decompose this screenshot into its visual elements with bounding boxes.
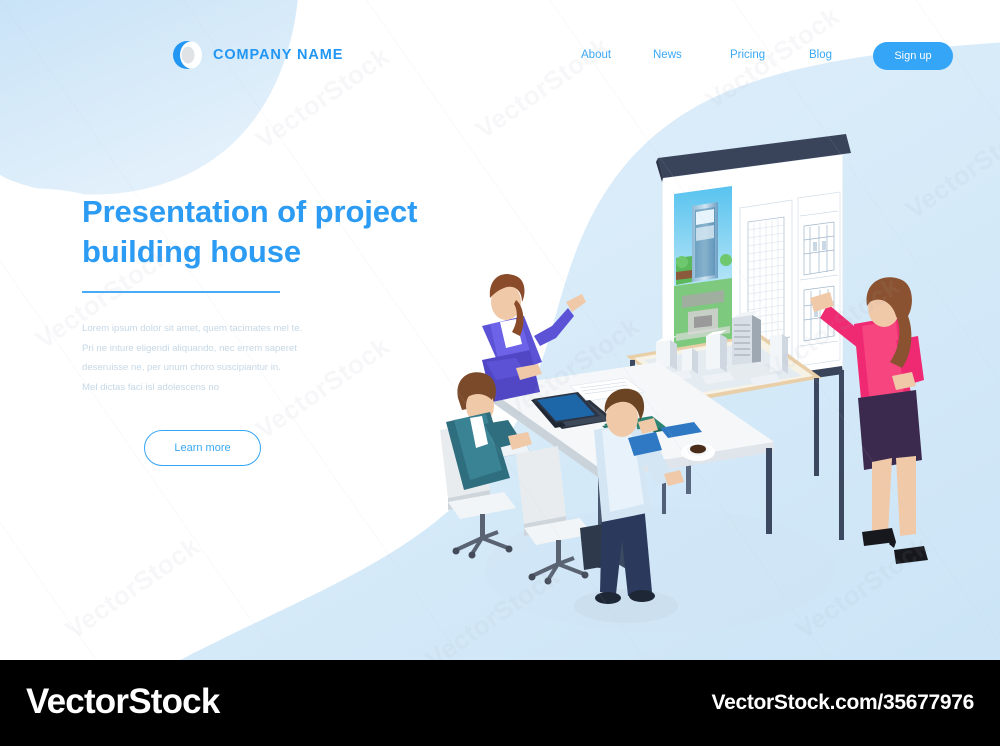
brand-name-label: COMPANY NAME	[213, 47, 343, 63]
signup-button[interactable]: Sign up	[873, 42, 953, 70]
pointing-hand	[566, 294, 586, 312]
heel-right	[894, 546, 928, 564]
nav-item-about[interactable]: About	[581, 49, 611, 61]
page-root: COMPANY NAME About News Pricing Blog Sig…	[0, 0, 1000, 746]
shoe-left	[595, 592, 621, 604]
site-header: COMPANY NAME About News Pricing Blog Sig…	[0, 0, 1000, 104]
shoe-right	[629, 590, 655, 602]
person-presenter-woman-pink	[810, 277, 928, 564]
footer-brand-text: VectorStock	[26, 682, 220, 722]
nav-item-blog[interactable]: Blog	[809, 49, 832, 61]
illustration-scene	[430, 130, 990, 650]
nav-item-pricing[interactable]: Pricing	[730, 49, 765, 61]
hero-body-text: Lorem ipsum dolor sit amet, quem tacimat…	[82, 319, 352, 397]
title-divider	[82, 291, 280, 293]
model-table-leg-right	[814, 378, 819, 476]
circle-crescent-logo-icon	[172, 40, 202, 70]
blueprint-floorplans	[798, 192, 840, 366]
brand-logo[interactable]: COMPANY NAME	[172, 40, 343, 70]
presenter-legs	[872, 458, 892, 534]
page-title: Presentation of project building house	[82, 192, 462, 272]
hero-section: Presentation of project building house L…	[82, 192, 462, 466]
footer-watermark-bar: VectorStock VectorStock.com/35677976	[0, 660, 1000, 746]
main-navigation: About News Pricing Blog Sign up	[560, 40, 960, 72]
learn-more-button[interactable]: Learn more	[144, 430, 261, 466]
building-render-panel	[674, 186, 732, 351]
footer-url-text: VectorStock.com/35677976	[712, 691, 974, 715]
conference-table-leg	[766, 448, 772, 534]
coffee-cup	[681, 443, 715, 461]
nav-item-news[interactable]: News	[653, 49, 682, 61]
screen-stand-post	[839, 370, 844, 540]
